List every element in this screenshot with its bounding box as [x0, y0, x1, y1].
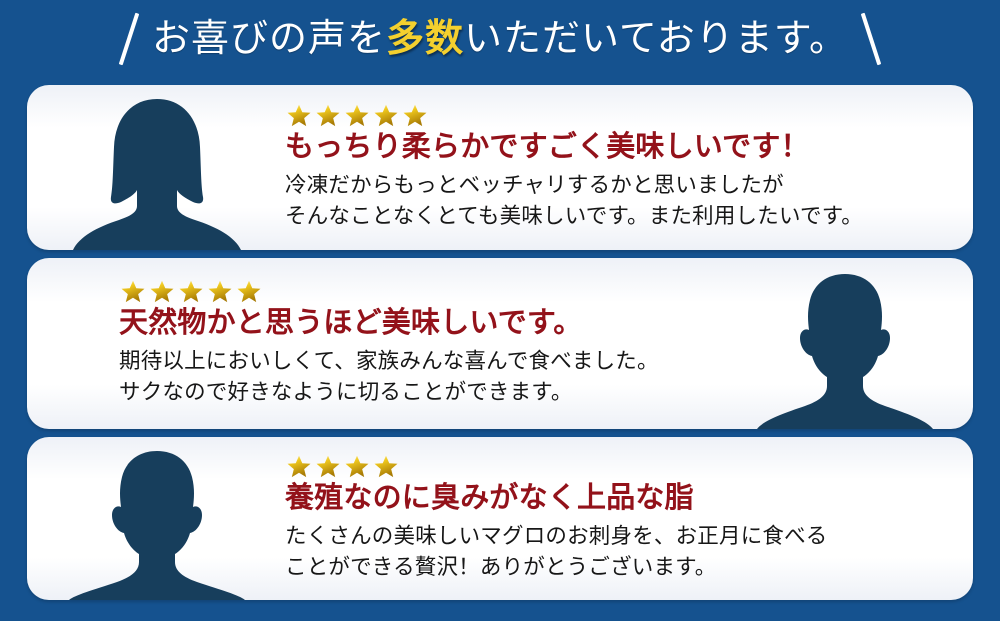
star-icon [343, 453, 371, 480]
testimonial-line: サクなので好きなように切ることができます。 [119, 377, 723, 408]
star-icon [401, 102, 429, 129]
testimonial-body: もっちり柔らかですごく美味しいです！ 冷凍だからもっとベッチャリするかと思いまし… [285, 85, 951, 250]
star-icon [285, 102, 313, 129]
star-rating [285, 103, 951, 128]
star-icon [177, 278, 205, 305]
star-icon [285, 453, 313, 480]
star-icon [148, 278, 176, 305]
star-icon [314, 102, 342, 129]
headline-text-before: お喜びの声を [152, 18, 386, 60]
testimonial-line: ことができる贅沢！ありがとうございます。 [285, 552, 951, 583]
testimonial-card: もっちり柔らかですごく美味しいです！ 冷凍だからもっとベッチャリするかと思いまし… [27, 85, 973, 250]
star-icon [206, 278, 234, 305]
testimonial-body: 養殖なのに臭みがなく上品な脂 たくさんの美味しいマグロのお刺身を、お正月に食べる… [285, 437, 951, 600]
star-icon [343, 102, 371, 129]
testimonial-line: 冷凍だからもっとベッチャリするかと思いましたが [285, 170, 951, 201]
headline-highlight: 多数 [386, 18, 464, 60]
testimonial-text: たくさんの美味しいマグロのお刺身を、お正月に食べる ことができる贅沢！ありがとう… [285, 521, 951, 583]
avatar [57, 85, 257, 250]
slash-right-icon [854, 13, 888, 65]
testimonial-text: 冷凍だからもっとベッチャリするかと思いましたが そんなことなくとても美味しいです… [285, 170, 951, 232]
banner-header: お喜びの声を多数いただいております。 [0, 0, 1000, 78]
testimonial-body: 天然物かと思うほど美味しいです。 期待以上においしくて、家族みんな喜んで食べまし… [119, 258, 723, 429]
testimonial-title: もっちり柔らかですごく美味しいです！ [285, 131, 951, 165]
testimonial-banner: お喜びの声を多数いただいております。 [0, 0, 1000, 621]
star-icon [372, 453, 400, 480]
star-icon [235, 278, 263, 305]
page-title: お喜びの声を多数いただいております。 [146, 20, 854, 58]
star-rating [119, 279, 723, 304]
testimonial-card: 天然物かと思うほど美味しいです。 期待以上においしくて、家族みんな喜んで食べまし… [27, 258, 973, 429]
testimonial-card: 養殖なのに臭みがなく上品な脂 たくさんの美味しいマグロのお刺身を、お正月に食べる… [27, 437, 973, 600]
avatar [745, 258, 945, 429]
testimonial-text: 期待以上においしくて、家族みんな喜んで食べました。 サクなので好きなように切るこ… [119, 346, 723, 408]
star-icon [119, 278, 147, 305]
headline-text-after: いただいております。 [464, 18, 848, 60]
star-icon [314, 453, 342, 480]
star-icon [372, 102, 400, 129]
slash-left-icon [112, 13, 146, 65]
testimonial-title: 天然物かと思うほど美味しいです。 [119, 307, 723, 341]
testimonial-line: 期待以上においしくて、家族みんな喜んで食べました。 [119, 346, 723, 377]
testimonial-line: たくさんの美味しいマグロのお刺身を、お正月に食べる [285, 521, 951, 552]
testimonial-line: そんなことなくとても美味しいです。また利用したいです。 [285, 201, 951, 232]
star-rating [285, 454, 951, 479]
testimonial-title: 養殖なのに臭みがなく上品な脂 [285, 482, 951, 516]
avatar [57, 437, 257, 600]
